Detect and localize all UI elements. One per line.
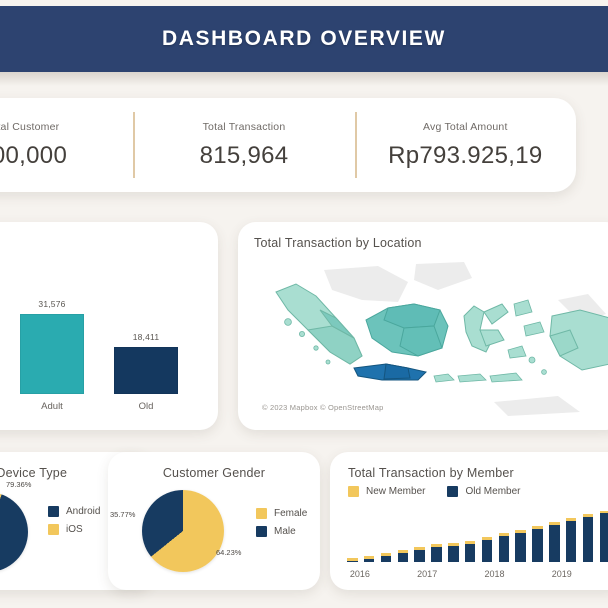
legend-label: New Member	[366, 486, 425, 497]
segment-old-member[interactable]	[600, 513, 608, 562]
legend-item-android[interactable]: Android	[48, 506, 100, 517]
segment-old-member[interactable]	[431, 547, 441, 562]
kpi-label: Total Transaction	[203, 121, 286, 133]
age-group-chart-panel: 50,013Young Adult31,576Adult18,411Old	[0, 222, 218, 430]
stacked-bar-column[interactable]	[364, 556, 374, 562]
dashboard-header: DASHBOARD OVERVIEW	[0, 6, 608, 72]
stacked-bar-column[interactable]	[600, 511, 608, 562]
map-title: Total Transaction by Location	[254, 236, 422, 250]
gender-pie-pct-female: 64.23%	[216, 548, 241, 557]
indonesia-choropleth-icon	[252, 260, 608, 418]
legend-item-ios[interactable]: iOS	[48, 524, 100, 535]
legend-label: Old Member	[465, 486, 520, 497]
segment-old-member[interactable]	[482, 540, 492, 562]
legend-swatch-icon	[48, 524, 59, 535]
device-pie-chart[interactable]	[0, 492, 28, 572]
legend-label: Android	[66, 506, 100, 517]
legend-item-female[interactable]: Female	[256, 508, 307, 519]
header-shadow	[0, 72, 608, 86]
stacked-bar-column[interactable]	[465, 541, 475, 562]
stacked-bar-column[interactable]	[347, 558, 357, 562]
device-pie-wrap: 79.36% 20.64%	[0, 492, 28, 572]
legend-item-new-member[interactable]: New Member	[348, 486, 425, 497]
legend-swatch-icon	[256, 508, 267, 519]
page-title: DASHBOARD OVERVIEW	[162, 27, 446, 51]
legend-item-old-member[interactable]: Old Member	[447, 486, 520, 497]
bar-group[interactable]: 18,411	[114, 332, 178, 394]
location-map-panel: Total Transaction by Location	[238, 222, 608, 430]
member-stacked-bar-plot: 2016201720182019	[344, 510, 608, 584]
legend-label: Female	[274, 508, 307, 519]
kpi-label: Avg Total Amount	[423, 121, 508, 133]
map-attribution: © 2023 Mapbox © OpenStreetMap	[262, 403, 384, 412]
legend-swatch-icon	[48, 506, 59, 517]
kpi-value: 815,964	[200, 142, 289, 170]
stacked-bar-column[interactable]	[398, 550, 408, 562]
member-chart-panel: Total Transaction by Member New Member O…	[330, 452, 608, 590]
kpi-label: Total Customer	[0, 121, 59, 133]
bar-category-label: Old	[114, 401, 178, 412]
gender-chart-title: Customer Gender	[108, 466, 320, 480]
kpi-value: 100,000	[0, 142, 67, 170]
stacked-bar-column[interactable]	[482, 537, 492, 562]
stacked-bar-column[interactable]	[381, 553, 391, 562]
bar-category-label: Adult	[20, 401, 84, 412]
gender-chart-panel: Customer Gender 35.77% 64.23% Female Mal…	[108, 452, 320, 590]
segment-old-member[interactable]	[448, 546, 458, 562]
age-group-bar-plot: 50,013Young Adult31,576Adult18,411Old	[0, 244, 208, 420]
axis-tick-label: 2018	[484, 569, 504, 579]
segment-old-member[interactable]	[398, 553, 408, 562]
stacked-bar-column[interactable]	[448, 543, 458, 562]
member-chart-title: Total Transaction by Member	[348, 466, 514, 480]
bar-rect[interactable]	[114, 347, 178, 394]
stacked-bar-column[interactable]	[431, 544, 441, 562]
stacked-bar-column[interactable]	[499, 533, 509, 562]
bar-rect[interactable]	[20, 314, 84, 394]
kpi-total-customer: Total Customer 100,000	[0, 98, 133, 192]
legend-label: iOS	[66, 524, 83, 535]
device-pie-pct-android: 79.36%	[6, 480, 31, 489]
axis-tick-label: 2016	[350, 569, 370, 579]
axis-tick-label: 2017	[417, 569, 437, 579]
legend-swatch-icon	[348, 486, 359, 497]
segment-old-member[interactable]	[549, 525, 559, 562]
kpi-total-transaction: Total Transaction 815,964	[133, 98, 354, 192]
segment-old-member[interactable]	[381, 556, 391, 562]
legend-swatch-icon	[256, 526, 267, 537]
stacked-bar-column[interactable]	[414, 547, 424, 562]
gender-pie-pct-male: 35.77%	[110, 510, 135, 519]
segment-old-member[interactable]	[414, 550, 424, 562]
segment-old-member[interactable]	[499, 536, 509, 562]
bar-group[interactable]: 31,576	[20, 299, 84, 394]
stacked-bar-column[interactable]	[515, 530, 525, 562]
gender-pie-wrap: 35.77% 64.23%	[142, 490, 224, 572]
stacked-bar-column[interactable]	[549, 522, 559, 562]
stacked-bar-column[interactable]	[566, 518, 576, 562]
device-legend: Android iOS	[48, 506, 100, 535]
map-canvas[interactable]: © 2023 Mapbox © OpenStreetMap	[252, 260, 608, 418]
kpi-value: Rp793.925,19	[388, 142, 542, 170]
kpi-avg-total-amount: Avg Total Amount Rp793.925,19	[355, 98, 576, 192]
stacked-bar-column[interactable]	[583, 514, 593, 562]
dashboard-root: DASHBOARD OVERVIEW Total Customer 100,00…	[0, 0, 608, 608]
segment-old-member[interactable]	[364, 559, 374, 562]
segment-old-member[interactable]	[515, 533, 525, 562]
gender-legend: Female Male	[256, 508, 307, 537]
segment-old-member[interactable]	[347, 561, 357, 562]
segment-old-member[interactable]	[465, 544, 475, 562]
gender-pie-chart[interactable]	[142, 490, 224, 572]
member-legend: New Member Old Member	[348, 486, 520, 497]
bar-value-label: 18,411	[133, 332, 160, 342]
segment-old-member[interactable]	[566, 521, 576, 562]
legend-swatch-icon	[447, 486, 458, 497]
segment-old-member[interactable]	[532, 529, 542, 562]
segment-old-member[interactable]	[583, 517, 593, 562]
bar-value-label: 31,576	[38, 299, 65, 309]
stacked-bar-column[interactable]	[532, 526, 542, 562]
axis-tick-label: 2019	[552, 569, 572, 579]
kpi-card-strip: Total Customer 100,000 Total Transaction…	[0, 98, 576, 192]
legend-label: Male	[274, 526, 296, 537]
legend-item-male[interactable]: Male	[256, 526, 307, 537]
